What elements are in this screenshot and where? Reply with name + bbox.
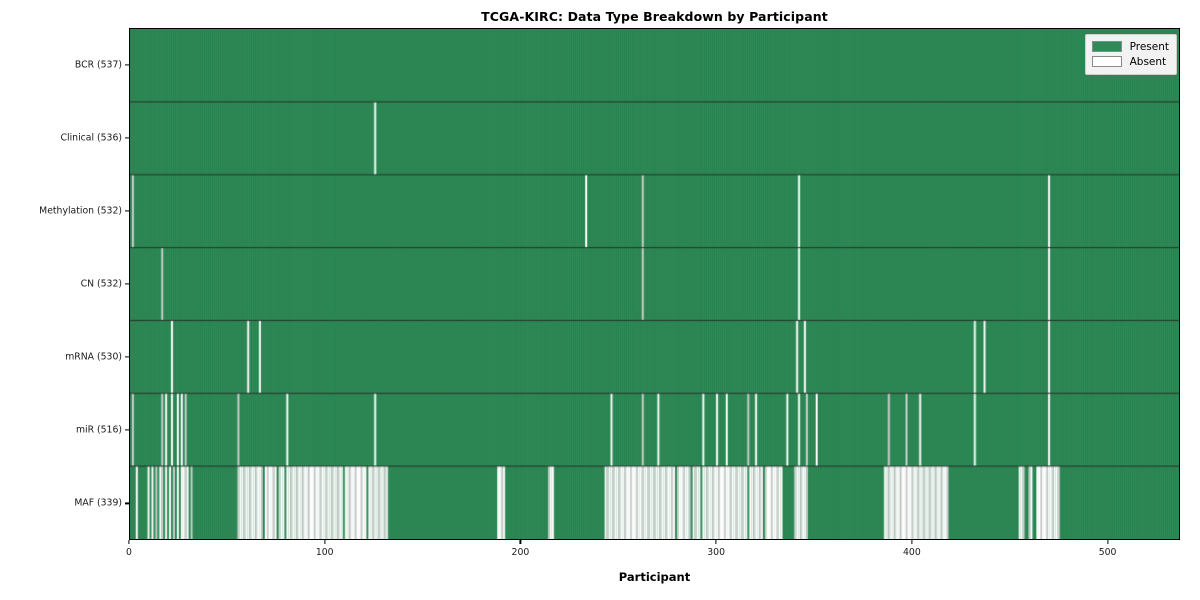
legend-label-present: Present <box>1130 41 1169 53</box>
y-tick-label-mrna: mRNA (530) <box>0 352 122 363</box>
x-tick-mark <box>520 540 521 544</box>
y-tick-label-bcr: BCR (537) <box>0 59 122 70</box>
y-tick-label-maf: MAF (339) <box>0 498 122 509</box>
legend: Present Absent <box>1085 34 1177 75</box>
x-tick-mark <box>716 540 717 544</box>
x-tick-mark <box>324 540 325 544</box>
heatmap-plot-area <box>129 28 1180 540</box>
x-tick-mark <box>911 540 912 544</box>
figure-canvas: TCGA-KIRC: Data Type Breakdown by Partic… <box>0 0 1200 600</box>
legend-swatch-absent <box>1092 56 1122 67</box>
x-tick-mark <box>128 540 129 544</box>
x-tick-label: 0 <box>126 547 132 558</box>
legend-swatch-present <box>1092 41 1122 52</box>
legend-item: Absent <box>1092 54 1169 69</box>
heatmap-grid <box>130 29 1179 539</box>
legend-label-absent: Absent <box>1130 56 1167 68</box>
legend-item: Present <box>1092 39 1169 54</box>
y-tick-label-clinical: Clinical (536) <box>0 132 122 143</box>
y-tick-label-mir: miR (516) <box>0 425 122 436</box>
y-tick-label-cn: CN (532) <box>0 279 122 290</box>
x-tick-label: 400 <box>903 547 921 558</box>
page-title: TCGA-KIRC: Data Type Breakdown by Partic… <box>129 9 1180 24</box>
x-tick-label: 100 <box>316 547 334 558</box>
x-axis-label: Participant <box>129 570 1180 584</box>
x-tick-mark <box>1107 540 1108 544</box>
x-tick-label: 200 <box>512 547 530 558</box>
y-tick-label-methylation: Methylation (532) <box>0 205 122 216</box>
x-tick-label: 300 <box>707 547 725 558</box>
x-tick-label: 500 <box>1099 547 1117 558</box>
